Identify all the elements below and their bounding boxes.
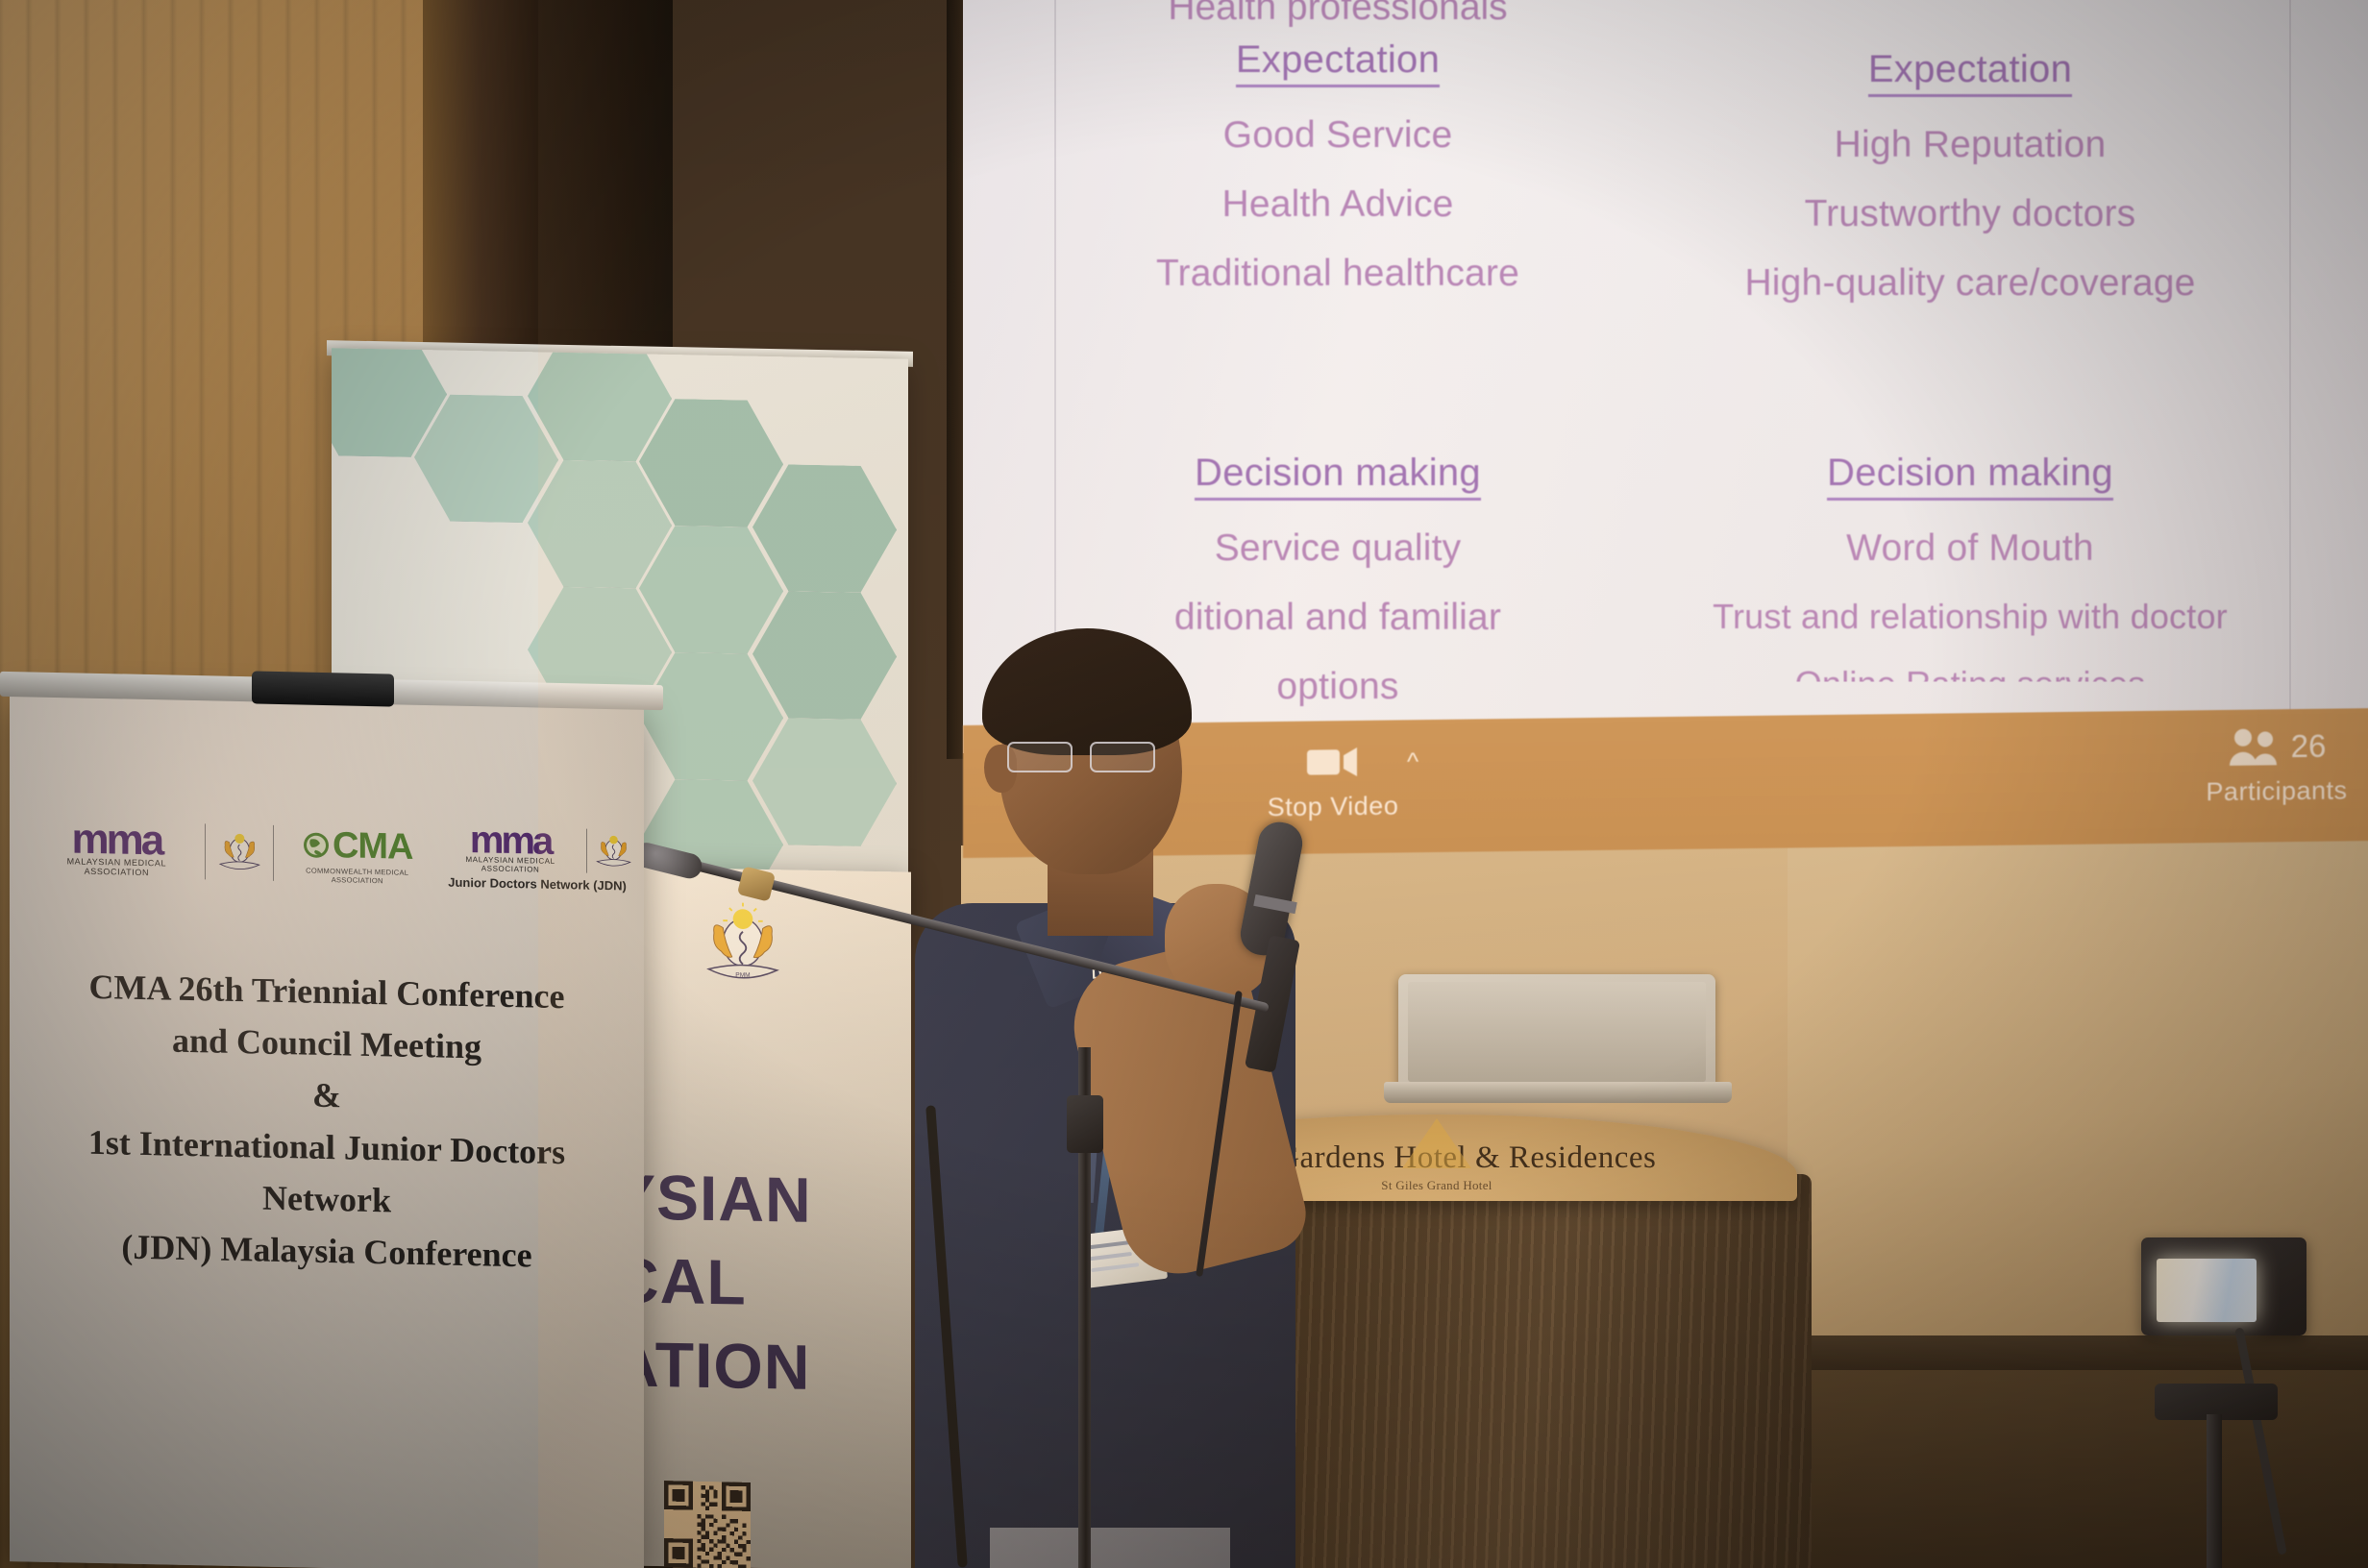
malaysia-crest-icon	[215, 824, 264, 881]
slide-heading: Expectation	[1236, 38, 1440, 87]
banner2-line: YSIAN	[623, 1155, 911, 1244]
banner-title-line: CMA 26th Triennial Conference	[29, 960, 625, 1024]
banner-title-line: (JDN) Malaysia Conference	[29, 1219, 625, 1284]
svg-text:PMM: PMM	[735, 972, 750, 979]
slide-heading: Decision making	[1827, 452, 2113, 501]
speaker-hair	[982, 628, 1192, 755]
slide-heading: Decision making	[1195, 452, 1481, 501]
banner-title-line: 1st International Junior Doctors	[29, 1115, 625, 1180]
participants-count: 26	[2291, 728, 2327, 765]
zoom-participants-button[interactable]: 26 Participants	[2176, 722, 2368, 808]
people-icon: 26	[2176, 722, 2368, 772]
slide-block-decision-right: Decision making Word of Mouth Trust and …	[1634, 452, 2306, 704]
mma-subtitle: MALAYSIAN MEDICAL ASSOCIATION	[38, 855, 195, 877]
banner-mma-secondary: PMM YSIAN CAL ATION	[623, 867, 911, 1568]
jdn-label: Junior Doctors Network (JDN)	[440, 874, 634, 893]
banner-rail-grip	[252, 671, 394, 706]
eyeglasses	[1007, 742, 1182, 771]
banner-logo-row: mma MALAYSIAN MEDICAL ASSOCIATION	[38, 816, 634, 894]
screenshot-root: PMM YSIAN CAL ATION Health professionals…	[0, 0, 2368, 1568]
banner-title-line: and Council Meeting	[29, 1012, 625, 1076]
slide-cut-top-line: Health professionals	[1069, 0, 1607, 29]
conference-rollup-banner: mma MALAYSIAN MEDICAL ASSOCIATION	[10, 695, 644, 1568]
mma-jdn-wordmark: mma	[440, 823, 580, 857]
banner-title-line: Network	[29, 1167, 625, 1232]
camera-lcd-screen	[2157, 1259, 2257, 1322]
malaysia-crest-icon	[593, 827, 634, 876]
cma-wordmark: CMA	[333, 825, 413, 869]
chevron-up-icon[interactable]: ^	[1407, 747, 1418, 776]
banner-title: CMA 26th Triennial Conference and Counci…	[29, 960, 625, 1284]
banner2-line: ATION	[623, 1322, 911, 1411]
slide-block-expectation-left: Expectation Good Service Health Advice T…	[1069, 38, 1607, 295]
microphone-stand-clamp	[1067, 1095, 1103, 1153]
back-ledge	[1768, 1335, 2368, 1370]
banner-title-line: &	[29, 1064, 625, 1128]
laptop-screen	[1408, 982, 1706, 1082]
slide-item: Good Service	[1069, 114, 1607, 157]
slide-item: Trust and relationship with doctor	[1634, 597, 2306, 637]
laptop-device	[1398, 974, 1715, 1088]
banner2-text: YSIAN CAL ATION	[623, 1155, 911, 1411]
slide-block-expectation-right: Expectation High Reputation Trustworthy …	[1634, 48, 2306, 305]
hexagon-tile	[752, 718, 897, 847]
slide-item: High-quality care/coverage	[1634, 262, 2306, 305]
slide-item: High Reputation	[1634, 124, 2306, 166]
cma-subtitle: COMMONWEALTH MEDICAL ASSOCIATION	[284, 866, 431, 886]
slide-item: Trustworthy doctors	[1634, 193, 2306, 235]
hotel-subname: St Giles Grand Hotel	[1381, 1178, 1492, 1193]
slide-item: Traditional healthcare	[1069, 253, 1607, 295]
mma-jdn-logo: mma MALAYSIAN MEDICAL ASSOCIATION Junior…	[440, 823, 634, 893]
banner2-line: CAL	[623, 1238, 911, 1328]
malaysia-crest-icon: PMM	[698, 901, 788, 999]
hexagon-tile	[752, 464, 897, 594]
cma-logo: CMA COMMONWEALTH MEDICAL ASSOCIATION	[284, 824, 431, 886]
slide-item: Online Rating services	[1634, 664, 2306, 704]
speaker-person: DR ARASU	[903, 615, 1307, 1568]
globe-icon	[302, 830, 331, 860]
tripod-leg	[2207, 1414, 2222, 1568]
laptop-base	[1384, 1082, 1732, 1103]
slide-heading: Expectation	[1868, 48, 2072, 97]
qr-code-icon	[663, 1481, 752, 1568]
mma-logo: mma MALAYSIAN MEDICAL ASSOCIATION	[38, 821, 195, 878]
triangle-mark-icon	[1402, 1118, 1471, 1168]
mma-jdn-subtitle: MALAYSIAN MEDICAL ASSOCIATION	[440, 854, 580, 874]
slide-item: Word of Mouth	[1634, 527, 2306, 570]
hexagon-tile	[752, 591, 897, 721]
slide-item: Service quality	[1069, 527, 1607, 570]
slide-item: Health Advice	[1069, 184, 1607, 226]
mma-wordmark: mma	[38, 821, 195, 859]
speaker-trousers	[990, 1528, 1230, 1568]
zoom-participants-label: Participants	[2176, 775, 2368, 808]
